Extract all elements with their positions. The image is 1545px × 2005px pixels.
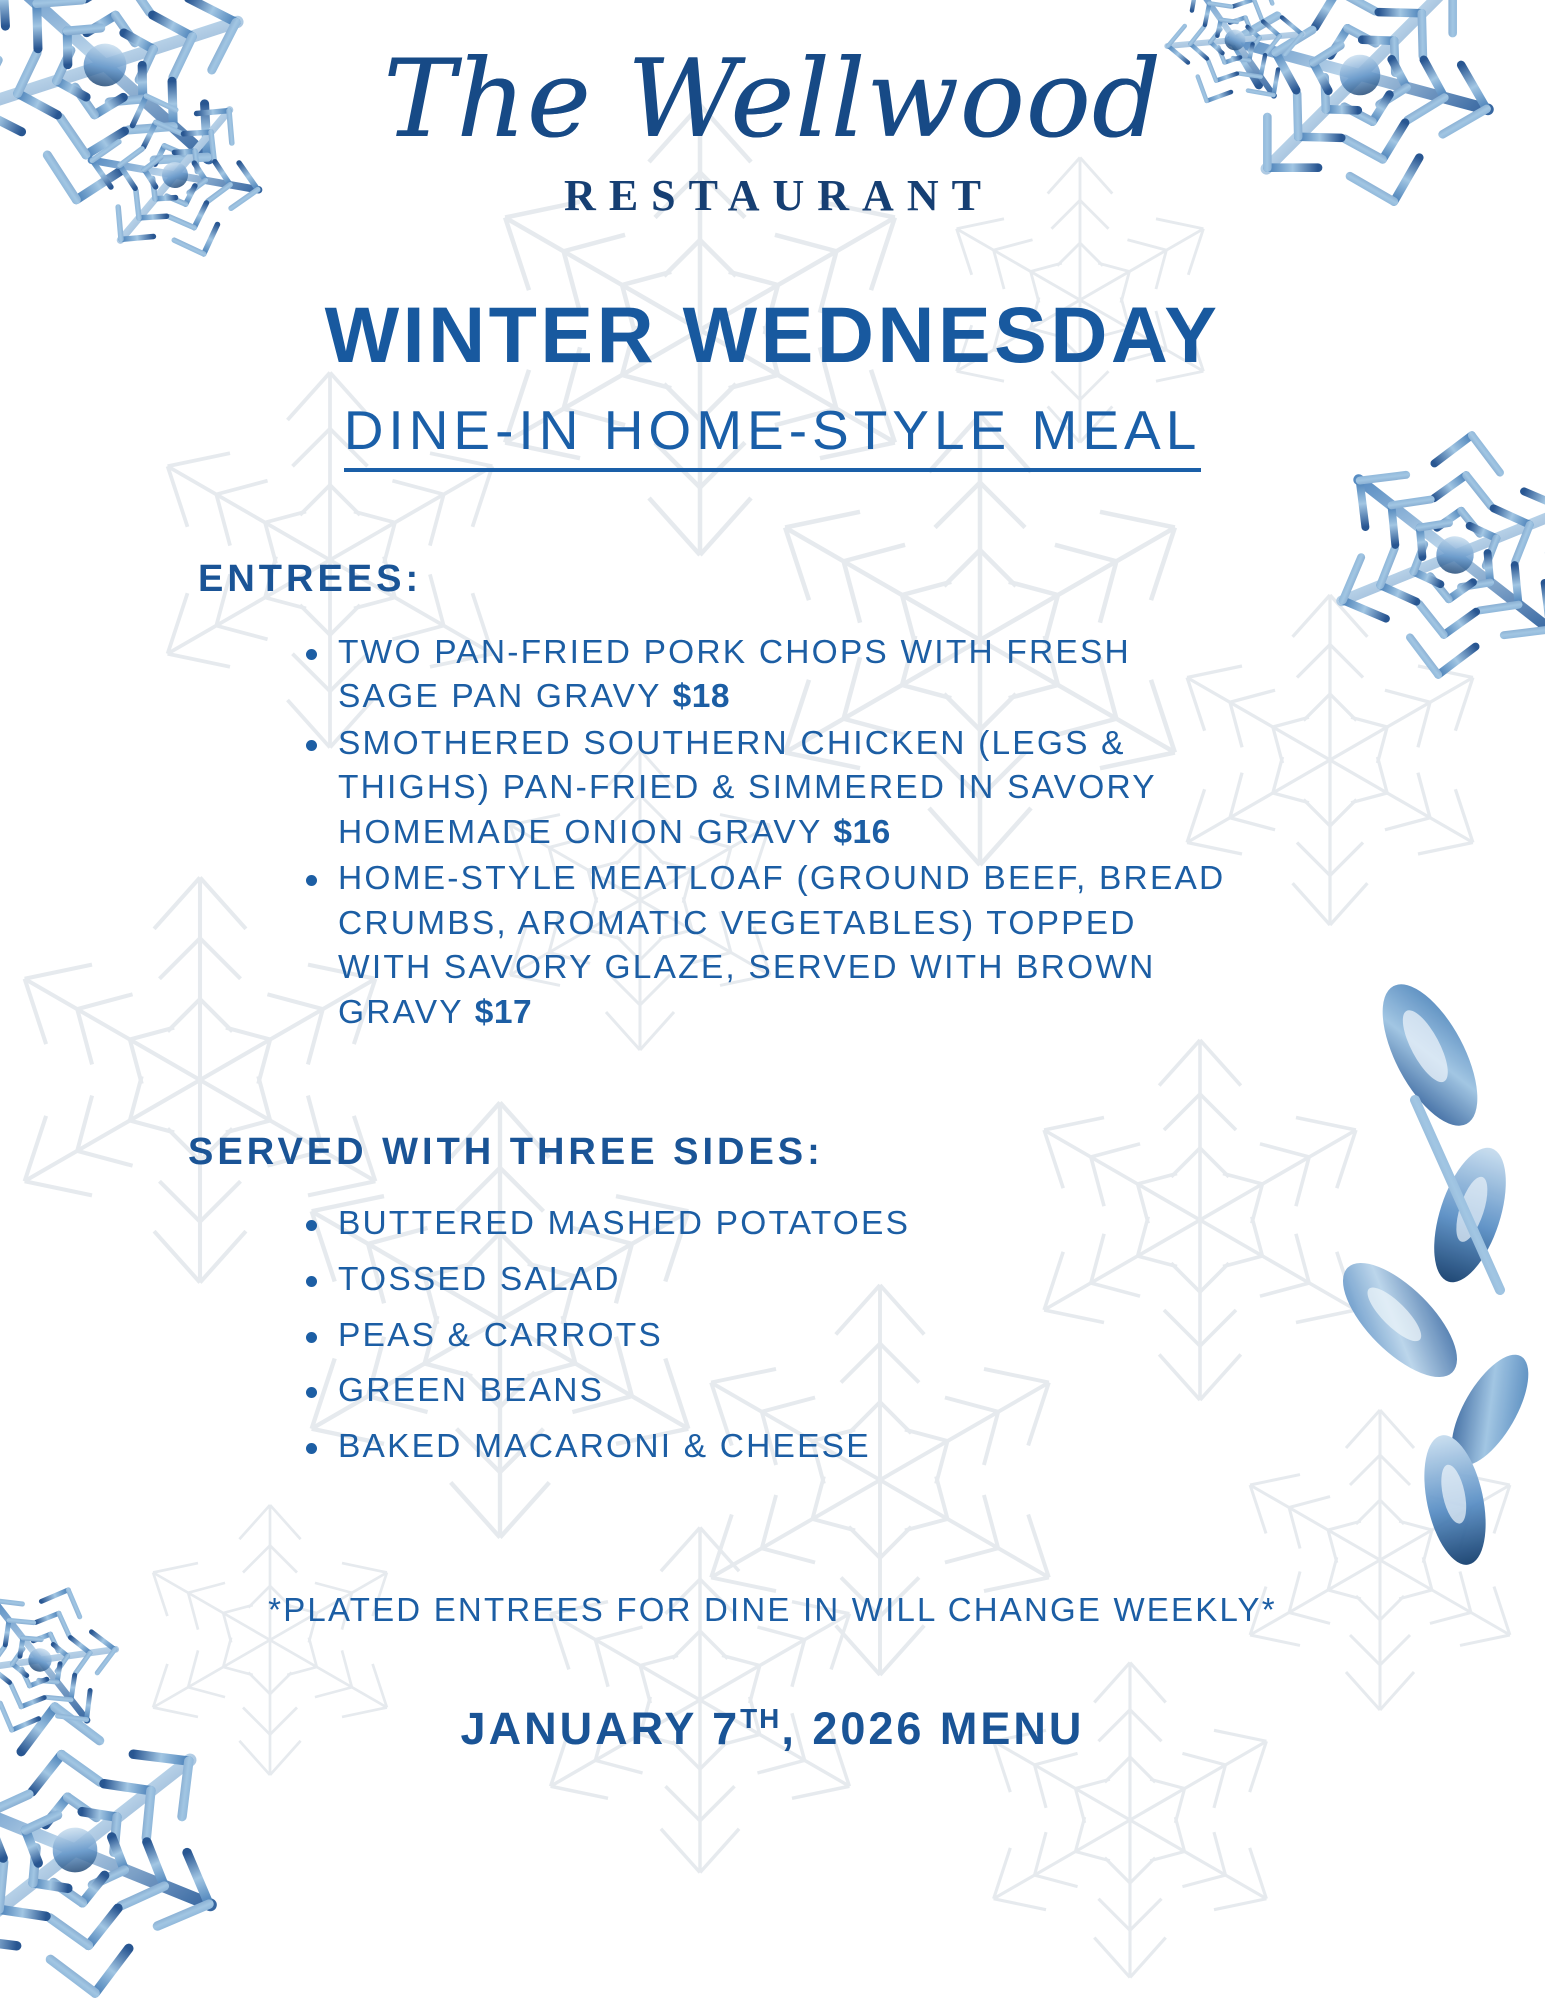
item-price: $18	[673, 678, 730, 715]
sides-section: SERVED WITH THREE SIDES: BUTTERED MASHED…	[0, 1131, 1545, 1471]
entree-list-item: HOME-STYLE MEATLOAF (GROUND BEEF, BREAD …	[300, 857, 1230, 1035]
footer-date-ordinal: TH	[740, 1703, 781, 1734]
item-text: GREEN BEANS	[338, 1372, 604, 1409]
footer-date-suffix: , 2026 MENU	[781, 1703, 1084, 1754]
side-list-item: PEAS & CARROTS	[300, 1312, 1230, 1361]
page-subtitle-wrap: DINE-IN HOME-STYLE MEAL	[0, 400, 1545, 472]
sides-heading: SERVED WITH THREE SIDES:	[188, 1131, 1545, 1174]
page-subtitle: DINE-IN HOME-STYLE MEAL	[344, 400, 1202, 472]
item-price: $16	[833, 814, 890, 851]
item-text: TWO PAN-FRIED PORK CHOPS WITH FRESH SAGE…	[338, 634, 1131, 716]
item-text: TOSSED SALAD	[338, 1261, 621, 1298]
side-list-item: BUTTERED MASHED POTATOES	[300, 1200, 1230, 1249]
footer-date-prefix: JANUARY 7	[461, 1703, 741, 1754]
entree-list-item: TWO PAN-FRIED PORK CHOPS WITH FRESH SAGE…	[300, 631, 1230, 720]
logo-subtitle: RESTAURANT	[0, 170, 1545, 221]
item-text: SMOTHERED SOUTHERN CHICKEN (LEGS & THIGH…	[338, 725, 1156, 851]
entrees-heading: ENTREES:	[198, 558, 1545, 601]
side-list-item: BAKED MACARONI & CHEESE	[300, 1423, 1230, 1472]
item-price: $17	[475, 994, 532, 1031]
item-text: BAKED MACARONI & CHEESE	[338, 1428, 871, 1465]
menu-flyer: The Wellwood RESTAURANT WINTER WEDNESDAY…	[0, 0, 1545, 2000]
page-title: WINTER WEDNESDAY	[0, 295, 1545, 374]
sides-list: BUTTERED MASHED POTATOESTOSSED SALADPEAS…	[300, 1200, 1230, 1471]
footer-note: *PLATED ENTREES FOR DINE IN WILL CHANGE …	[0, 1591, 1545, 1629]
item-text: BUTTERED MASHED POTATOES	[338, 1205, 910, 1242]
entrees-section: ENTREES: TWO PAN-FRIED PORK CHOPS WITH F…	[0, 558, 1545, 1036]
entree-list-item: SMOTHERED SOUTHERN CHICKEN (LEGS & THIGH…	[300, 722, 1230, 856]
restaurant-logo: The Wellwood RESTAURANT	[0, 0, 1545, 221]
side-list-item: TOSSED SALAD	[300, 1256, 1230, 1305]
footer-date: JANUARY 7TH, 2026 MENU	[0, 1703, 1545, 1755]
logo-script-name: The Wellwood	[0, 46, 1545, 154]
side-list-item: GREEN BEANS	[300, 1367, 1230, 1416]
item-text: HOME-STYLE MEATLOAF (GROUND BEEF, BREAD …	[338, 860, 1225, 1031]
item-text: PEAS & CARROTS	[338, 1317, 663, 1354]
entrees-list: TWO PAN-FRIED PORK CHOPS WITH FRESH SAGE…	[300, 631, 1230, 1036]
